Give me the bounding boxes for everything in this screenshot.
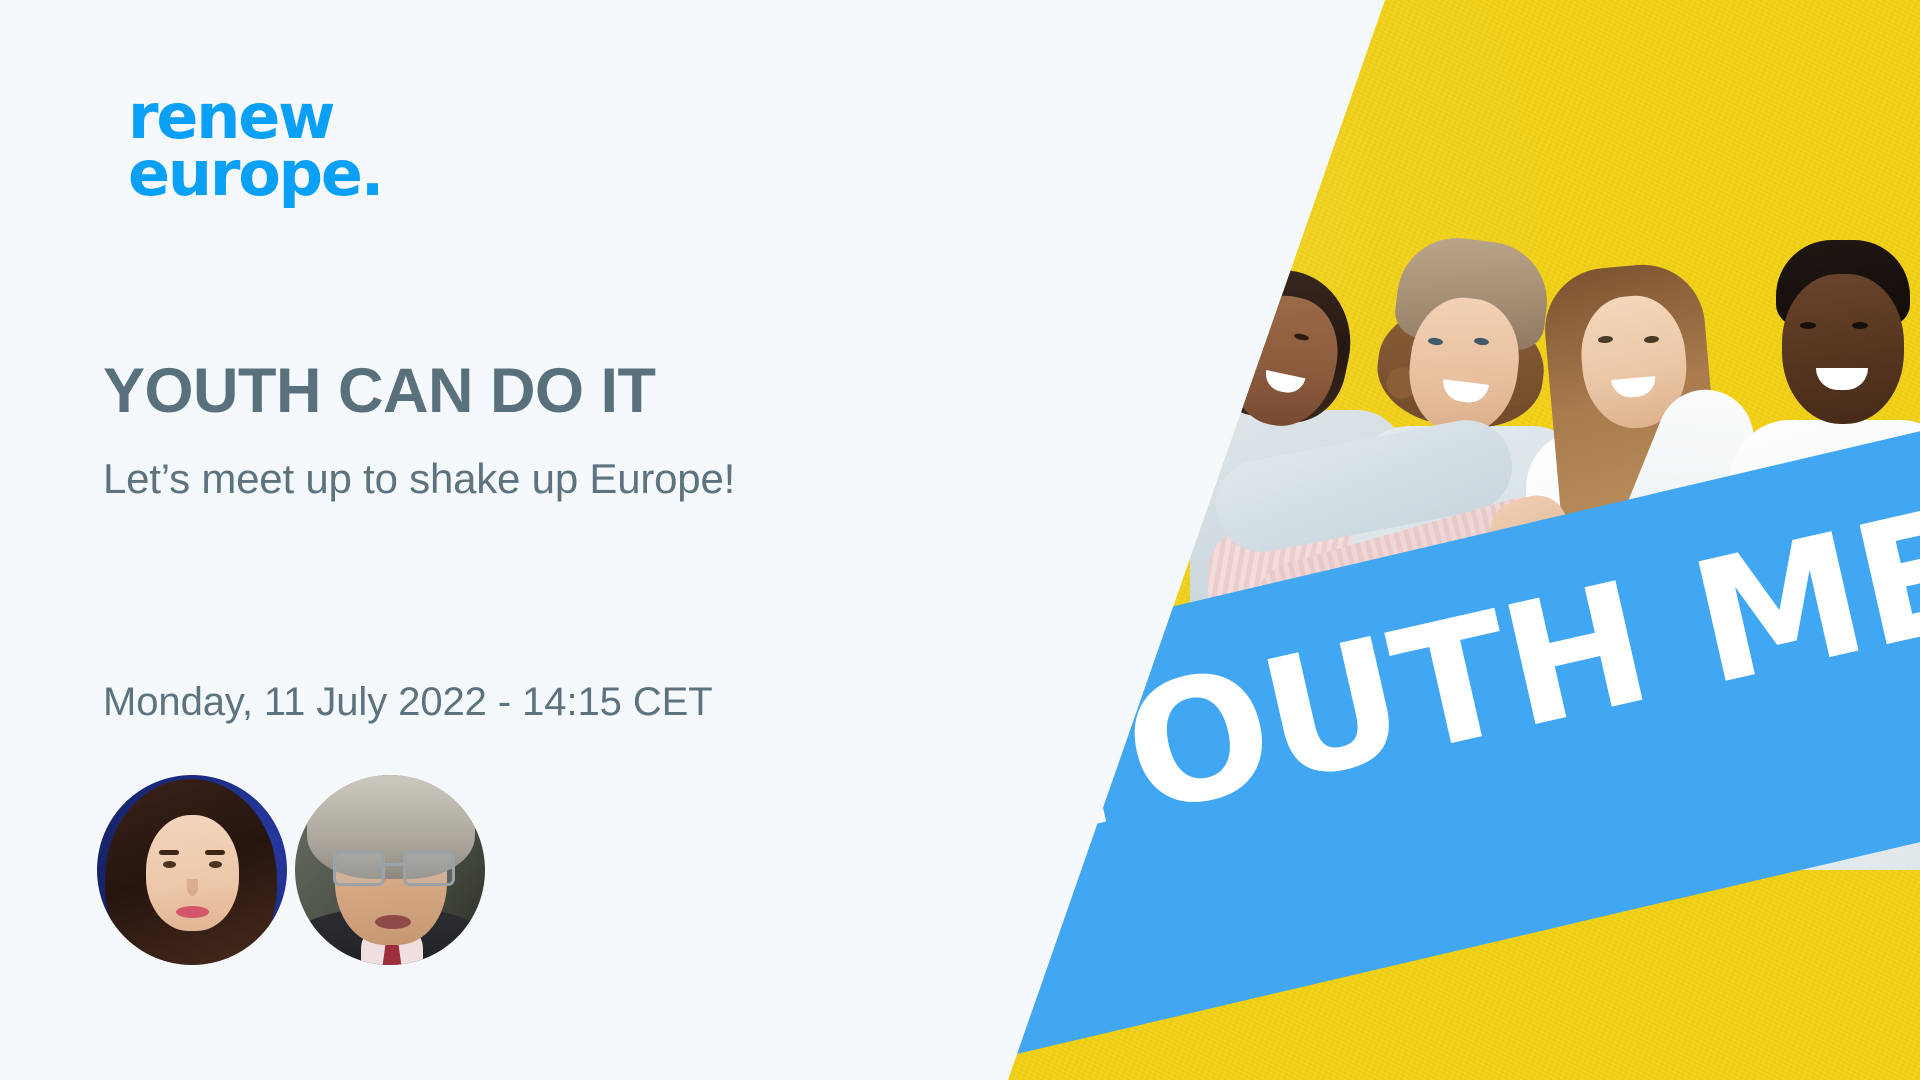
speaker-avatars	[97, 775, 485, 965]
event-datetime: Monday, 11 July 2022 - 14:15 CET	[103, 680, 713, 725]
logo-line-2: europe.	[128, 145, 382, 202]
eyebrow-left	[159, 850, 179, 855]
speaker-avatar-2[interactable]	[295, 775, 485, 965]
nose	[187, 879, 198, 896]
bridge	[379, 863, 403, 866]
face	[1782, 274, 1904, 424]
content-panel: renew europe. YOUTH CAN DO IT Let’s meet…	[0, 0, 1010, 1080]
eye-left	[1800, 322, 1816, 329]
lips	[176, 906, 209, 918]
eye-right	[1852, 322, 1868, 329]
speaker-avatar-1[interactable]	[97, 775, 287, 965]
event-banner: YOUTH MEET renew europe. YOUTH CAN DO IT…	[0, 0, 1920, 1080]
mouth	[375, 915, 411, 929]
event-headline: YOUTH CAN DO IT	[103, 355, 655, 427]
lens-right	[403, 851, 455, 886]
eye-left	[1248, 333, 1264, 342]
eye-left	[163, 861, 176, 868]
renew-europe-logo[interactable]: renew europe.	[128, 88, 382, 202]
lens-left	[333, 851, 385, 886]
event-subheadline: Let’s meet up to shake up Europe!	[103, 455, 735, 503]
glasses-icon	[331, 851, 453, 881]
eyebrow-right	[205, 850, 225, 855]
eye-right	[209, 861, 222, 868]
